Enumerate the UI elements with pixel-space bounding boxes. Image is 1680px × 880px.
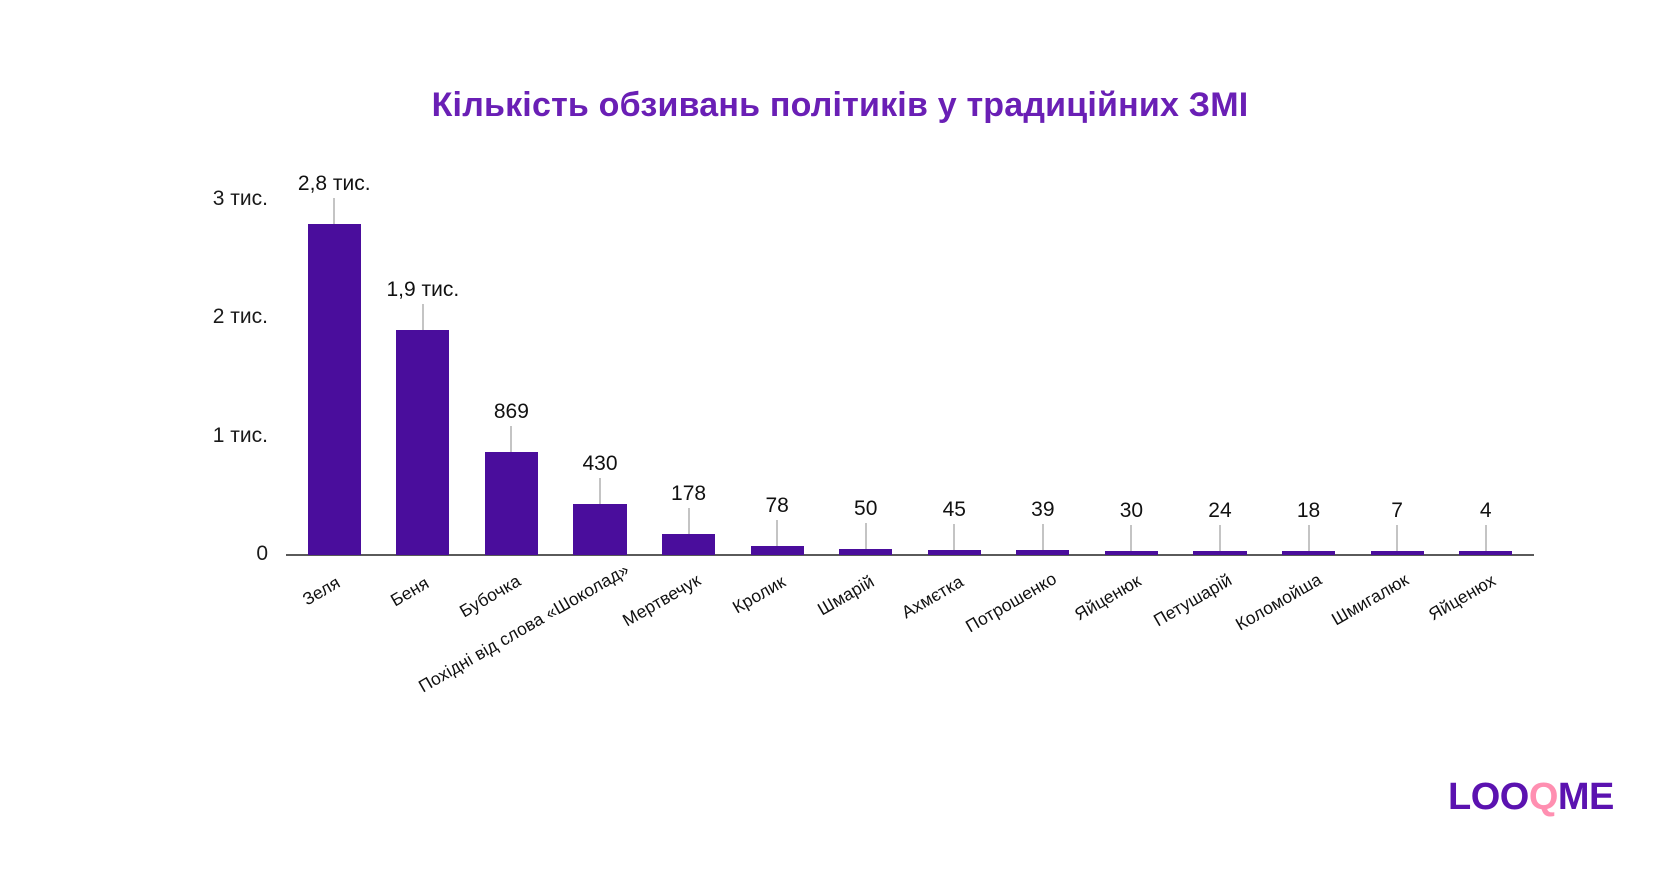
value-leader-line — [334, 198, 335, 224]
bar-value-label: 18 — [1297, 499, 1320, 523]
bar-value-label: 24 — [1208, 499, 1231, 523]
x-axis-category-label: Яйценюх — [1425, 570, 1500, 625]
bar-value-label: 2,8 тис. — [298, 172, 371, 196]
bar-group[interactable]: 2,8 тис. — [308, 200, 361, 555]
value-leader-line — [511, 426, 512, 452]
bar[interactable] — [1282, 551, 1335, 555]
x-axis-category-label: Мертвечук — [619, 569, 704, 630]
bar[interactable] — [928, 550, 981, 555]
bar-value-label: 430 — [582, 452, 617, 476]
bar-value-label: 50 — [854, 497, 877, 521]
bar-value-label: 4 — [1480, 499, 1492, 523]
value-leader-line — [1219, 525, 1220, 551]
bar[interactable] — [1371, 551, 1424, 555]
value-leader-line — [1042, 524, 1043, 550]
bar[interactable] — [308, 224, 361, 555]
bar-group[interactable]: 24 — [1193, 200, 1246, 555]
x-axis-category-label: Шмарій — [814, 571, 878, 620]
value-leader-line — [777, 520, 778, 546]
x-axis-category-label: Беня — [387, 573, 433, 612]
bar-group[interactable]: 4 — [1459, 200, 1512, 555]
logo-text-part3: ME — [1558, 776, 1614, 818]
page-title: Кількість обзивань політиків у традиційн… — [0, 86, 1680, 125]
y-axis-tick-label: 3 тис. — [148, 187, 268, 211]
x-axis-category-label: Кролик — [729, 571, 789, 618]
bar-group[interactable]: 45 — [928, 200, 981, 555]
bar[interactable] — [485, 452, 538, 555]
bar-group[interactable]: 869 — [485, 200, 538, 555]
bar[interactable] — [662, 534, 715, 555]
chart-canvas: Кількість обзивань політиків у традиційн… — [0, 0, 1680, 880]
value-leader-line — [865, 523, 866, 549]
bar-group[interactable]: 78 — [751, 200, 804, 555]
x-axis-category-label: Петушарій — [1150, 569, 1236, 631]
bar-group[interactable]: 50 — [839, 200, 892, 555]
bar-value-label: 7 — [1391, 499, 1403, 523]
x-axis-category-label: Зеля — [299, 573, 344, 611]
bar[interactable] — [396, 330, 449, 555]
plot-area: 2,8 тис.1,9 тис.869430178785045393024187… — [290, 200, 1530, 555]
value-leader-line — [1131, 525, 1132, 551]
value-leader-line — [688, 508, 689, 534]
y-axis-tick-label: 2 тис. — [148, 305, 268, 329]
x-axis-category-label: Ахмєтка — [898, 571, 967, 623]
bar-group[interactable]: 430 — [573, 200, 626, 555]
bar[interactable] — [751, 546, 804, 555]
bar-value-label: 45 — [943, 498, 966, 522]
bar-value-label: 178 — [671, 482, 706, 506]
bar-group[interactable]: 18 — [1282, 200, 1335, 555]
logo-text-part1: LOO — [1448, 776, 1529, 818]
bar[interactable] — [1459, 551, 1512, 555]
bar[interactable] — [573, 504, 626, 555]
bar-value-label: 869 — [494, 400, 529, 424]
bar[interactable] — [1105, 551, 1158, 555]
x-axis-category-label: Потрошенко — [962, 568, 1060, 637]
bar[interactable] — [1016, 550, 1069, 555]
value-leader-line — [599, 478, 600, 504]
x-axis-category-label: Похідні від слова «Шоколад» — [415, 559, 633, 697]
bar-group[interactable]: 7 — [1371, 200, 1424, 555]
bar-group[interactable]: 1,9 тис. — [396, 200, 449, 555]
bar-value-label: 30 — [1120, 499, 1143, 523]
bar[interactable] — [839, 549, 892, 555]
bar-group[interactable]: 178 — [662, 200, 715, 555]
x-axis-category-label: Коломойша — [1232, 569, 1326, 635]
bar-value-label: 78 — [765, 494, 788, 518]
logo-text-part2: Q — [1529, 776, 1558, 818]
value-leader-line — [954, 524, 955, 550]
bar-value-label: 39 — [1031, 498, 1054, 522]
x-axis-category-label: Бубочка — [456, 571, 525, 623]
value-leader-line — [1308, 525, 1309, 551]
value-leader-line — [1485, 525, 1486, 551]
value-leader-line — [422, 304, 423, 330]
x-axis-category-label: Шмигалюк — [1328, 570, 1412, 631]
value-leader-line — [1397, 525, 1398, 551]
bar[interactable] — [1193, 551, 1246, 555]
bar-group[interactable]: 30 — [1105, 200, 1158, 555]
x-axis-category-label: Яйценюк — [1071, 570, 1145, 625]
y-axis-tick-label: 1 тис. — [148, 424, 268, 448]
y-axis-tick-label: 0 — [148, 542, 268, 566]
bar-group[interactable]: 39 — [1016, 200, 1069, 555]
looqme-logo: LOOQME — [1448, 778, 1614, 816]
bar-value-label: 1,9 тис. — [386, 278, 459, 302]
